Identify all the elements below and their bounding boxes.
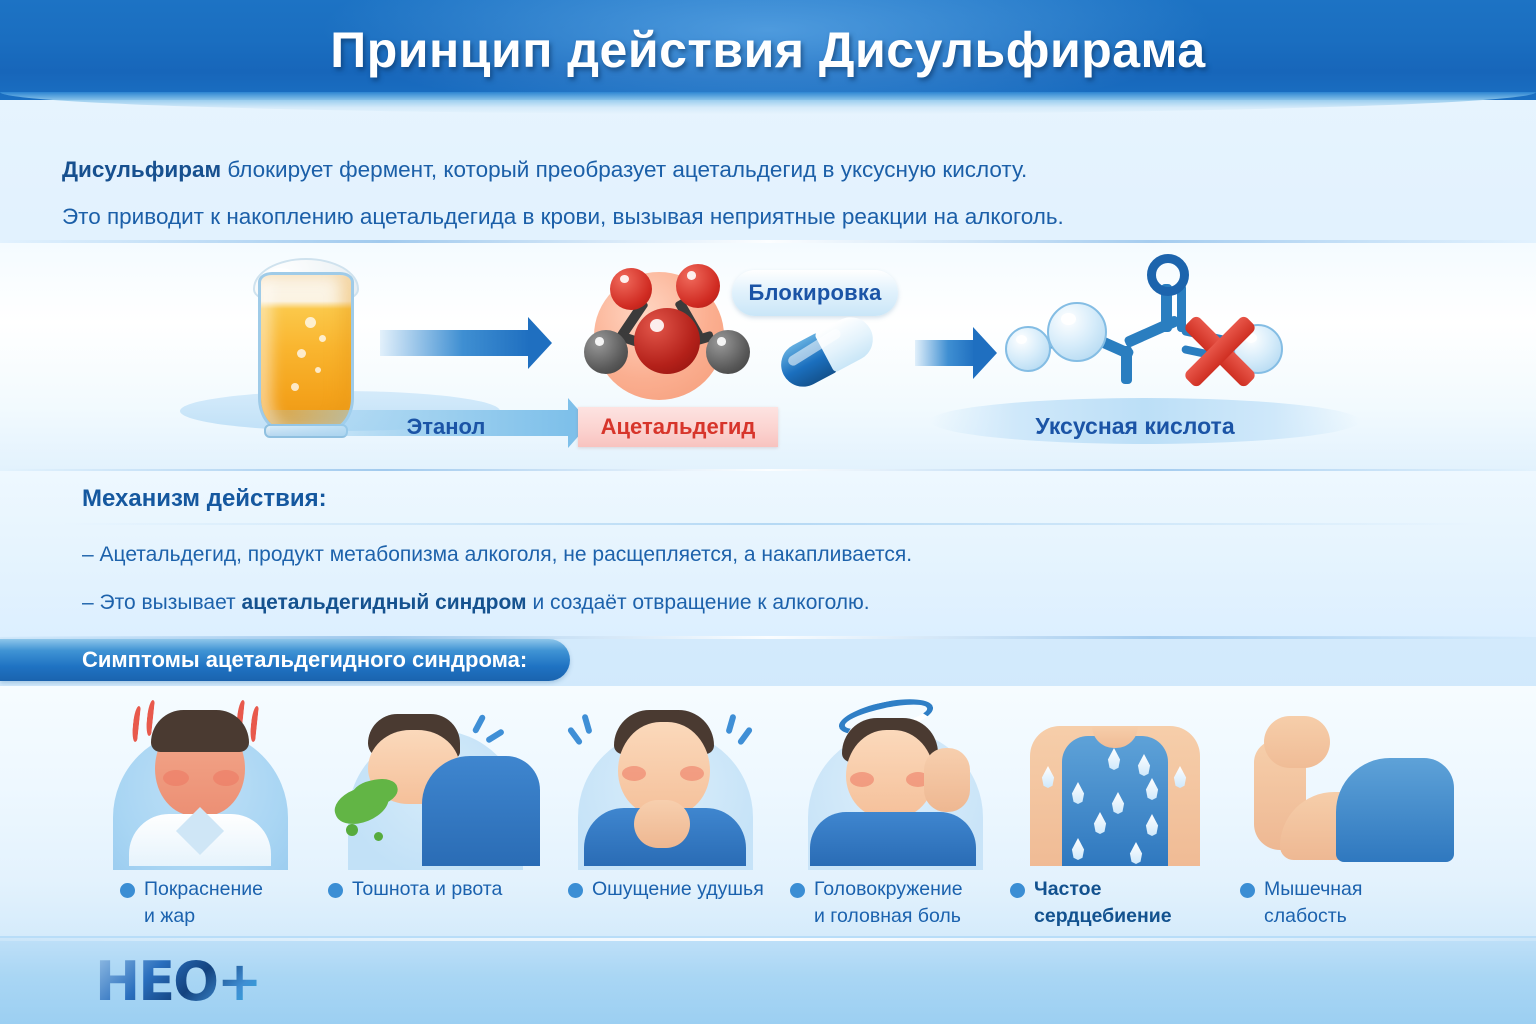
symptom-1-line1: Покраснение (144, 878, 263, 900)
arrow-to-acid (915, 340, 975, 366)
flushed-face-icon (95, 696, 305, 866)
header-wave-decoration (0, 92, 1536, 114)
bullet-dot-icon (790, 883, 805, 898)
dizziness-icon (790, 696, 1000, 866)
symptom-caption-5: Частоесердцебиение (1010, 876, 1210, 930)
footer-rule (0, 938, 1536, 941)
header-bar: Принцип действия Дисульфирама (0, 0, 1536, 100)
sweating-torso-icon (1010, 696, 1220, 866)
vomiting-icon (330, 696, 540, 866)
arrow-ethanol-to-molecule (380, 330, 530, 356)
bullet-dot-icon (568, 883, 583, 898)
intro-line-1: Дисульфирам блокирует фермент, который п… (62, 146, 1362, 193)
symptom-4-line2: и головная боль (814, 905, 961, 927)
bullet-dot-icon (1240, 883, 1255, 898)
mechanism-heading: Механизм действия: (82, 485, 327, 513)
footer-bar: НЕО+ (0, 938, 1536, 1024)
symptom-2-line1: Тошнота и рвота (352, 878, 502, 900)
bullet-dot-icon (328, 883, 343, 898)
carbonyl-oxygen-ring (1147, 254, 1189, 296)
symptoms-banner: Симптомы ацетальдегидного синдрома: (0, 639, 570, 681)
mechanism-bullet-2-post: и создаёт отвращение к алкоголю. (527, 591, 870, 614)
symptom-3-line1: Ошущение удушья (592, 878, 764, 900)
atom-hydrogen-right (706, 330, 750, 374)
acid-atom-2 (1047, 302, 1107, 362)
symptom-4-line1: Головокружение (814, 878, 963, 900)
symptom-caption-4: Головокружениеи головная боль (790, 876, 1000, 930)
symptom-5-line2: сердцебиение (1034, 905, 1172, 927)
bullet-dot-icon (1010, 883, 1025, 898)
atom-oxygen-left (610, 268, 652, 310)
brand-logo: НЕО+ (95, 950, 260, 1013)
acid-atom-1 (1005, 326, 1051, 372)
bullet-dot-icon (120, 883, 135, 898)
mechanism-bullet-2-bold: ацетальдегидный синдром (242, 591, 527, 614)
symptom-caption-2: Тошнота и рвота (328, 876, 528, 903)
intro-bold-term: Дисульфирам (62, 157, 221, 182)
intro-text-block: Дисульфирам блокирует фермент, который п… (62, 146, 1362, 240)
symptom-5-line1: Частое (1034, 878, 1101, 900)
page-title: Принцип действия Дисульфирама (0, 0, 1536, 100)
beer-body (258, 272, 354, 432)
atom-oxygen-right (676, 264, 720, 308)
block-badge: Блокировка (732, 270, 898, 316)
infographic-root: Принцип действия Дисульфирама Дисульфира… (0, 0, 1536, 1024)
mechanism-bullet-2-pre: – Это вызывает (82, 591, 242, 614)
red-x-icon (1177, 308, 1263, 394)
intro-line-2: Это приводит к накоплению ацетальдегида … (62, 193, 1362, 240)
intro-line-1-rest: блокирует фермент, который преобразует а… (221, 157, 1027, 182)
acetic-acid-label: Уксусная кислота (975, 405, 1295, 447)
symptom-1-line2: и жар (144, 905, 195, 927)
mechanism-bullet-1: – Ацетальдегид, продукт метабопизма алко… (82, 543, 912, 567)
atom-carbon-center (634, 308, 700, 374)
mechanism-section: Механизм действия: – Ацетальдегид, проду… (0, 471, 1536, 637)
acetaldehyde-label: Ацетальдегид (578, 407, 778, 447)
symptom-caption-1: Покраснениеи жар (120, 876, 320, 930)
flexed-arm-icon (1240, 696, 1450, 866)
choking-icon (560, 696, 770, 866)
symptom-caption-6: Мышечнаяслабость (1240, 876, 1440, 930)
atom-hydrogen-left (584, 330, 628, 374)
mechanism-rule (62, 523, 1482, 525)
acetic-acid-structure-icon (995, 268, 1275, 398)
symptom-6-line2: слабость (1264, 905, 1347, 927)
symptom-caption-3: Ошущение удушья (568, 876, 783, 903)
symptom-6-line1: Мышечная (1264, 878, 1362, 900)
mechanism-bullet-2: – Это вызывает ацетальдегидный синдром и… (82, 591, 870, 615)
ethanol-label: Этанол (386, 407, 506, 447)
